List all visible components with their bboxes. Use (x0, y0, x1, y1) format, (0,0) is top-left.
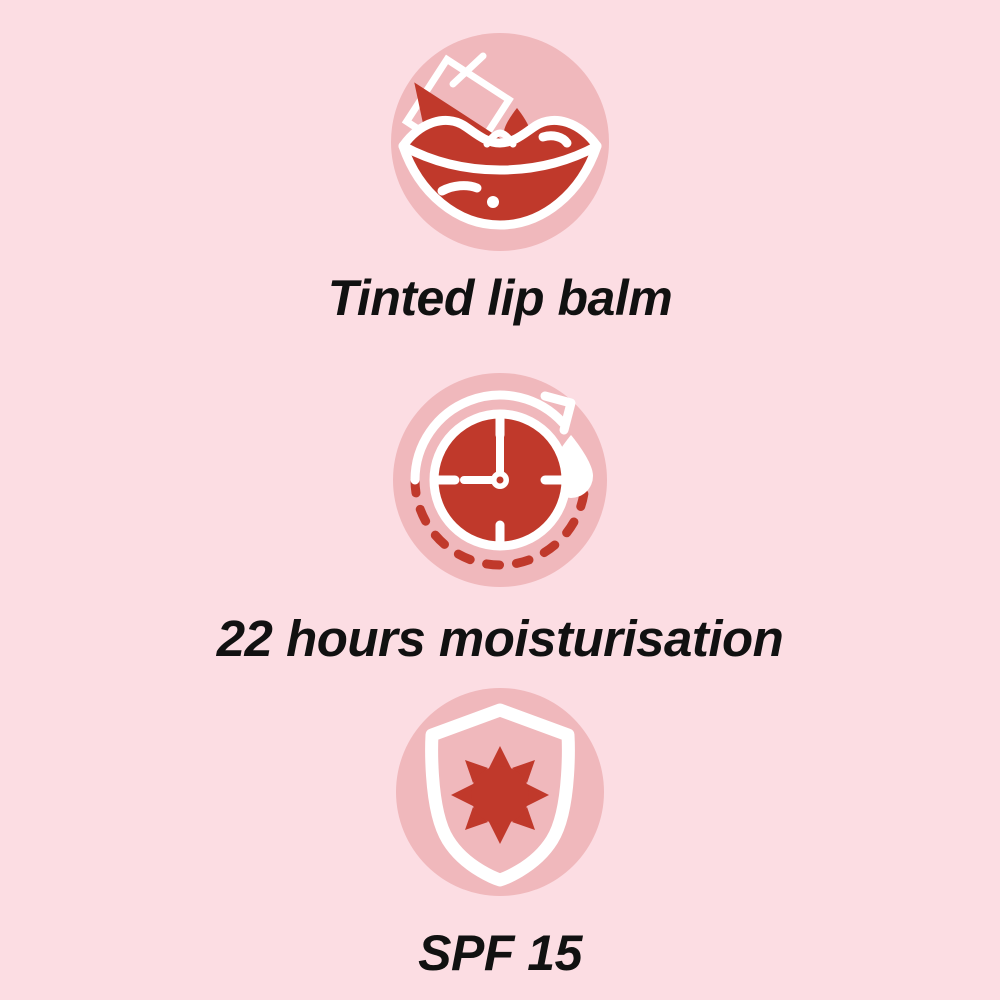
benefit-item-moisturisation: 22 hours moisturisation (0, 373, 1000, 664)
shield-with-sun-icon (396, 688, 604, 896)
benefit-item-tinted-lip-balm: Tinted lip balm (0, 33, 1000, 323)
lips-icon (403, 120, 597, 225)
benefit-item-spf: SPF 15 (0, 688, 1000, 978)
benefit-label-tinted-lip-balm: Tinted lip balm (328, 273, 672, 323)
benefit-label-spf: SPF 15 (418, 928, 582, 978)
lips-with-applicator-icon (391, 33, 609, 251)
sun-core-icon (471, 766, 529, 824)
product-benefits-panel: Tinted lip balm (0, 0, 1000, 1000)
benefit-label-moisturisation: 22 hours moisturisation (217, 613, 784, 664)
clock-with-arrow-icon (393, 373, 607, 587)
